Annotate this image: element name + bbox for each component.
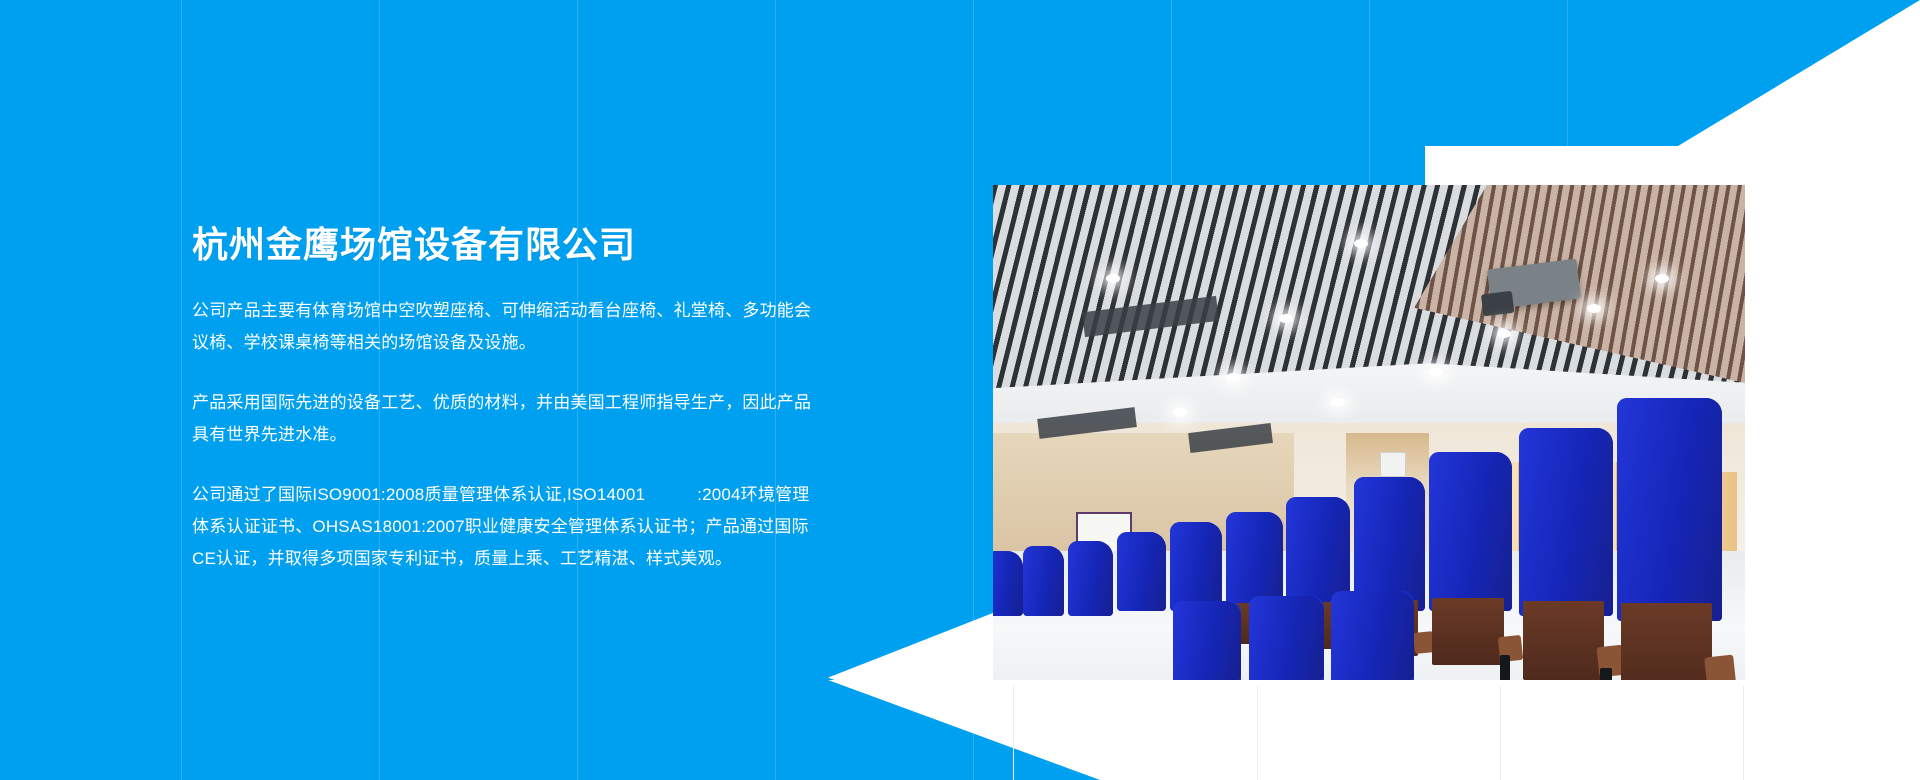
- auditorium-seat: [1519, 428, 1613, 616]
- gridline: [1500, 686, 1501, 780]
- gridline: [1257, 686, 1258, 780]
- ceiling-light: [1106, 274, 1120, 283]
- certification-text-part-1: 公司通过了国际ISO9001:2008质量管理体系认证,ISO14001: [192, 485, 645, 504]
- auditorium-seat: [1068, 541, 1113, 615]
- auditorium-seat: [993, 551, 1023, 615]
- ceiling-light: [1655, 274, 1669, 283]
- auditorium-seat: [1170, 522, 1223, 611]
- auditorium-seat: [1429, 452, 1512, 610]
- auditorium-seat: [1023, 546, 1064, 615]
- ceiling-light: [1173, 408, 1187, 417]
- hero-text-column: 杭州金鹰场馆设备有限公司 公司产品主要有体育场馆中空吹塑座椅、可伸缩活动看台座椅…: [192, 222, 812, 575]
- intro-paragraph-products: 公司产品主要有体育场馆中空吹塑座椅、可伸缩活动看台座椅、礼堂椅、多功能会议椅、学…: [192, 295, 812, 359]
- ceiling-light: [1279, 314, 1293, 323]
- auditorium-photo: [993, 185, 1745, 680]
- auditorium-seat-front-row: [1249, 596, 1324, 680]
- auditorium-seat-front-row: [1173, 601, 1241, 680]
- intro-paragraph-certifications: 公司通过了国际ISO9001:2008质量管理体系认证,ISO14001:200…: [192, 479, 812, 575]
- auditorium-photo-illustration: [993, 185, 1745, 680]
- intro-paragraph-quality: 产品采用国际先进的设备工艺、优质的材料，并由美国工程师指导生产，因此产品具有世界…: [192, 387, 812, 451]
- hero-banner: 杭州金鹰场馆设备有限公司 公司产品主要有体育场馆中空吹塑座椅、可伸缩活动看台座椅…: [0, 0, 1920, 780]
- gridline: [1743, 686, 1744, 780]
- ceiling-light: [1587, 304, 1601, 313]
- auditorium-seat: [1117, 532, 1166, 611]
- ceiling-light: [1497, 329, 1511, 338]
- wall-socket-panel: [1380, 452, 1406, 476]
- auditorium-seat: [1617, 398, 1722, 621]
- company-title: 杭州金鹰场馆设备有限公司: [192, 222, 812, 267]
- auditorium-seat-front-row: [1331, 591, 1414, 680]
